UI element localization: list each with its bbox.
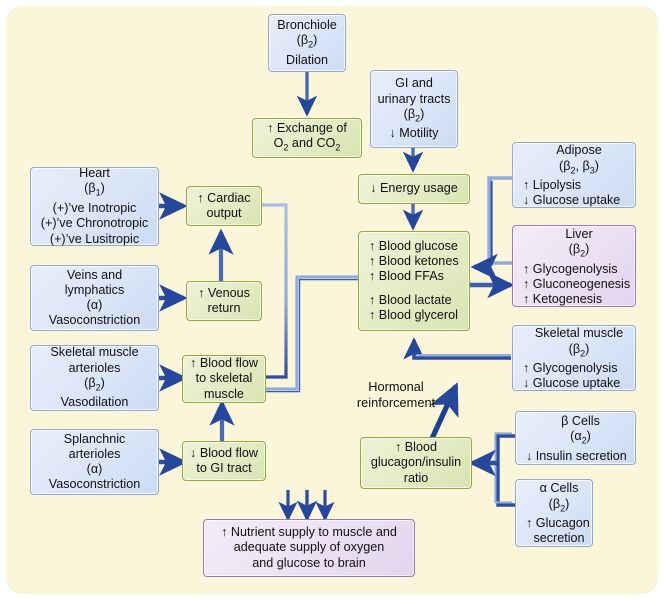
node-gi-line1: GI and — [395, 76, 433, 91]
node-veins-lymphatics[interactable]: Veins and lymphatics (α) Vasoconstrictio… — [30, 265, 159, 331]
node-veins-line3: (α) — [87, 298, 103, 313]
node-nutrient-supply[interactable]: ↑ Nutrient supply to muscle and adequate… — [203, 519, 415, 577]
node-skelmus-line2: (β2) — [559, 342, 590, 362]
node-beta-line2: (α2) — [560, 429, 591, 449]
node-skelmus-line1: Skeletal muscle — [525, 326, 623, 341]
node-exchange-o2-co2[interactable]: ↑ Exchange of O2 and CO2 — [252, 118, 362, 158]
node-gi-line3: (β2) — [404, 107, 425, 127]
node-adipose[interactable]: Adipose (β2, β3) ↑ Lipolysis ↓ Glucose u… — [512, 142, 636, 208]
node-beta-line1: β Cells — [551, 414, 600, 429]
node-blood-flow-skeletal-muscle[interactable]: ↑ Blood flow to skeletal muscle — [182, 355, 266, 403]
node-skel-art-line2: arterioles — [69, 361, 121, 376]
node-liver-line1: Liver — [555, 227, 592, 242]
node-bronchiole-line2: (β2) — [297, 33, 318, 53]
node-heart[interactable]: Heart (β1) (+)’ve Inotropic (+)’ve Chron… — [30, 167, 159, 246]
node-veins-line1: Veins and — [67, 268, 122, 283]
node-venous-line2: return — [208, 301, 241, 316]
node-glucagon-insulin-ratio[interactable]: ↑ Blood glucagon/insulin ratio — [360, 437, 472, 489]
node-heart-line5: (+)’ve Lusitropic — [50, 232, 139, 247]
node-adipose-line3: ↑ Lipolysis — [513, 178, 581, 193]
node-liver-line2: (β2) — [559, 242, 590, 262]
node-skelmus-line3: ↑ Glycogenolysis — [513, 361, 618, 376]
node-energy-usage[interactable]: ↓ Energy usage — [358, 174, 470, 204]
node-energy-line1: ↓ Energy usage — [370, 181, 458, 196]
node-venous-line1: ↑ Venous — [198, 286, 250, 301]
node-veins-line4: Vasoconstriction — [49, 313, 140, 328]
node-adipose-line2: (β2, β3) — [549, 159, 599, 179]
node-beta-line3: ↓ Insulin secretion — [516, 449, 627, 464]
node-blood-flow-gi-tract[interactable]: ↓ Blood flow to GI tract — [182, 441, 266, 481]
node-bf-gi-line2: to GI tract — [196, 461, 251, 476]
flowchart-canvas: Bronchiole (β2) Dilation GI and urinary … — [0, 0, 664, 600]
node-blood-line5: ↑ Blood glycerol — [359, 308, 458, 323]
node-bf-gi-line1: ↓ Blood flow — [190, 446, 258, 461]
node-heart-line4: (+)’ve Chronotropic — [41, 216, 148, 231]
node-bronchiole-line1: Bronchiole — [277, 18, 337, 33]
node-skelmus-line4: ↓ Glucose uptake — [513, 376, 620, 391]
node-blood-levels[interactable]: ↑ Blood glucose ↑ Blood ketones ↑ Blood … — [358, 231, 470, 331]
node-exchange-line2: O2 and CO2 — [274, 136, 341, 156]
node-alpha-line3: ↑ Glucagon — [516, 516, 590, 531]
node-skeletal-muscle-arterioles[interactable]: Skeletal muscle arterioles (β2) Vasodila… — [30, 345, 159, 411]
node-bf-skel-line1: ↑ Blood flow — [190, 356, 258, 371]
node-blood-line2: ↑ Blood ketones — [359, 254, 459, 269]
node-splanch-line1: Splanchnic — [64, 432, 126, 447]
node-adipose-line1: Adipose — [546, 143, 602, 158]
node-blood-line1: ↑ Blood glucose — [359, 239, 458, 254]
node-exchange-line1: ↑ Exchange of — [267, 121, 347, 136]
node-bf-skel-line3: muscle — [204, 387, 244, 402]
node-alpha-line4: secretion — [523, 531, 584, 546]
label-hormonal-reinforcement: Hormonal reinforcement — [334, 379, 458, 411]
hormonal-line1: Hormonal — [368, 379, 423, 394]
node-nutrient-line3: and glucose to brain — [252, 556, 365, 571]
node-nutrient-line2: adequate supply of oxygen — [234, 540, 385, 555]
node-alpha-line1: α Cells — [530, 481, 579, 496]
node-blood-line4: ↑ Blood lactate — [359, 293, 452, 308]
node-alpha-cells[interactable]: α Cells (β2) ↑ Glucagon secretion — [515, 479, 593, 547]
node-skeletal-muscle[interactable]: Skeletal muscle (β2) ↑ Glycogenolysis ↓ … — [512, 325, 636, 391]
node-liver[interactable]: Liver (β2) ↑ Glycogenolysis ↑ Gluconeoge… — [512, 225, 636, 307]
node-bf-skel-line2: to skeletal — [196, 371, 253, 386]
node-heart-line2: (β1) — [84, 181, 105, 201]
node-venous-return[interactable]: ↑ Venous return — [186, 281, 262, 321]
node-cardiac-line1: ↑ Cardiac — [197, 191, 250, 206]
node-gi-line4: ↓ Motility — [390, 126, 439, 141]
hormonal-line2: reinforcement — [357, 395, 435, 410]
node-alpha-line2: (β2) — [539, 497, 570, 517]
node-glucagon-line2: glucagon/insulin — [371, 455, 461, 470]
node-skel-art-line3: (β2) — [84, 376, 105, 396]
node-nutrient-line1: ↑ Nutrient supply to muscle and — [221, 525, 397, 540]
node-splanch-line3: (α) — [87, 462, 103, 477]
node-beta-cells[interactable]: β Cells (α2) ↓ Insulin secretion — [515, 411, 636, 465]
node-veins-line2: lymphatics — [65, 283, 125, 298]
node-skel-art-line1: Skeletal muscle — [50, 345, 138, 360]
node-adipose-line4: ↓ Glucose uptake — [513, 193, 620, 208]
node-cardiac-output[interactable]: ↑ Cardiac output — [186, 186, 262, 226]
node-bronchiole[interactable]: Bronchiole (β2) Dilation — [268, 14, 346, 72]
node-gi-urinary-tracts[interactable]: GI and urinary tracts (β2) ↓ Motility — [370, 70, 458, 148]
node-glucagon-line3: ratio — [404, 471, 429, 486]
node-liver-line5: ↑ Ketogenesis — [513, 292, 602, 307]
node-skel-art-line4: Vasodilation — [61, 395, 129, 410]
node-splanchnic-arterioles[interactable]: Splanchnic arterioles (α) Vasoconstricti… — [30, 429, 159, 495]
node-bronchiole-line3: Dilation — [286, 53, 328, 68]
node-heart-line1: Heart — [79, 166, 110, 181]
node-cardiac-line2: output — [206, 206, 241, 221]
node-glucagon-line1: ↑ Blood — [395, 440, 437, 455]
node-liver-line3: ↑ Glycogenolysis — [513, 262, 618, 277]
node-splanch-line4: Vasoconstriction — [49, 477, 140, 492]
node-blood-line3: ↑ Blood FFAs — [359, 269, 444, 284]
node-gi-line2: urinary tracts — [378, 92, 451, 107]
node-heart-line3: (+)’ve Inotropic — [53, 201, 137, 216]
node-splanch-line2: arterioles — [69, 447, 121, 462]
node-liver-line4: ↑ Gluconeogenesis — [513, 277, 630, 292]
